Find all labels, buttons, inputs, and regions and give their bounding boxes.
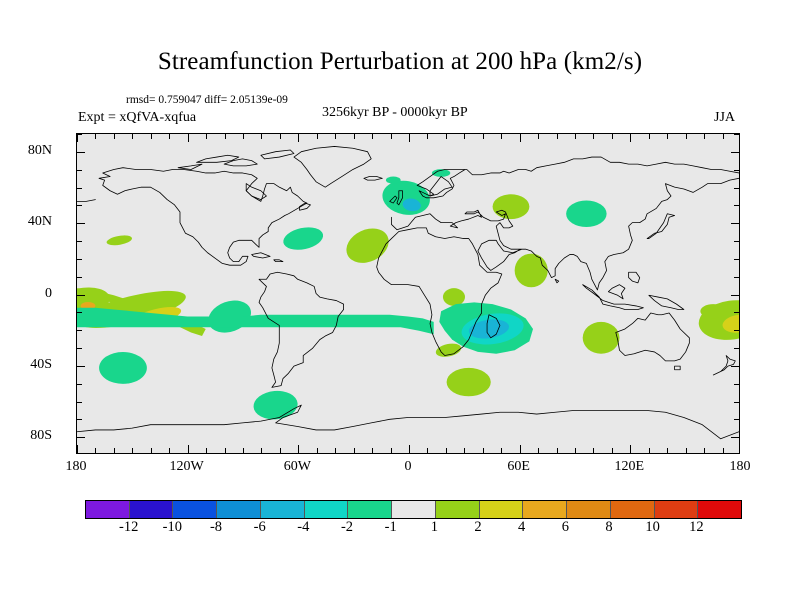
y-axis-label: 0 (45, 286, 52, 302)
axis-tick (734, 205, 739, 206)
coastline (99, 168, 307, 265)
x-axis-label: 0 (405, 459, 412, 475)
axis-tick (483, 448, 484, 453)
axis-tick (612, 448, 613, 453)
colorbar-segment (260, 501, 304, 518)
axis-tick (501, 448, 502, 453)
axis-tick (734, 277, 739, 278)
axis-tick (557, 448, 558, 453)
colorbar-tick-label: 4 (518, 519, 525, 536)
axis-tick (686, 448, 687, 453)
anomaly-blob (386, 177, 401, 184)
axis-tick (169, 448, 170, 453)
colorbar-segment (435, 501, 479, 518)
axis-tick (464, 134, 465, 139)
axis-tick (731, 437, 739, 438)
x-axis-label: 180 (66, 459, 87, 475)
y-axis-label: 40S (30, 357, 52, 373)
axis-tick (132, 448, 133, 453)
y-axis-label: 80S (30, 428, 52, 444)
axis-tick (520, 134, 521, 142)
axis-tick (77, 152, 85, 153)
axis-tick (630, 134, 631, 142)
axis-tick (151, 134, 152, 139)
axis-tick (734, 188, 739, 189)
colorbar-tick-label: -12 (119, 519, 138, 536)
anomaly-blob (566, 200, 606, 227)
coastline (246, 184, 266, 200)
axis-tick (132, 134, 133, 139)
coastline (364, 177, 382, 181)
axis-tick (77, 223, 85, 224)
axis-tick (77, 205, 82, 206)
axis-tick (225, 134, 226, 139)
axis-tick (354, 134, 355, 139)
axis-tick (649, 134, 650, 139)
coastline (77, 200, 95, 202)
axis-tick (734, 384, 739, 385)
axis-tick (593, 448, 594, 453)
axis-tick (317, 134, 318, 139)
axis-tick (723, 134, 724, 139)
coastline (274, 260, 283, 262)
axis-tick (731, 152, 739, 153)
axis-tick (649, 448, 650, 453)
axis-tick (427, 134, 428, 139)
axis-tick (77, 419, 82, 420)
map-plot-area (76, 133, 740, 454)
coastline (261, 150, 294, 159)
axis-tick (206, 134, 207, 139)
coastline (224, 159, 257, 166)
axis-tick (243, 134, 244, 139)
axis-tick (77, 188, 82, 189)
coastline (252, 253, 270, 258)
axis-tick (77, 134, 82, 135)
experiment-label: Expt = xQfVA-xqfua (78, 110, 196, 126)
axis-tick (114, 448, 115, 453)
colorbar-tick-label: -10 (163, 519, 182, 536)
axis-tick (77, 330, 82, 331)
axis-tick (77, 170, 82, 171)
axis-tick (298, 445, 299, 453)
anomaly-blob (380, 177, 433, 218)
axis-tick (734, 170, 739, 171)
axis-tick (667, 448, 668, 453)
y-axis-label: 40N (28, 214, 52, 230)
axis-tick (298, 134, 299, 142)
colorbar-segment (654, 501, 698, 518)
axis-tick (734, 259, 739, 260)
axis-tick (261, 134, 262, 139)
axis-tick (667, 134, 668, 139)
axis-tick (335, 448, 336, 453)
axis-tick (77, 402, 82, 403)
anomaly-blob (583, 322, 620, 354)
coastline (294, 146, 371, 187)
axis-tick (538, 134, 539, 139)
axis-tick (391, 448, 392, 453)
axis-tick (77, 384, 82, 385)
colorbar-segment (522, 501, 566, 518)
anomaly-region (77, 308, 434, 335)
axis-tick (77, 312, 82, 313)
axis-tick (335, 134, 336, 139)
axis-tick (593, 134, 594, 139)
axis-tick (317, 448, 318, 453)
axis-tick (354, 448, 355, 453)
colorbar-tick-label: 8 (605, 519, 612, 536)
anomaly-blob (493, 194, 530, 219)
axis-tick (409, 445, 410, 453)
x-axis-label: 180 (730, 459, 751, 475)
axis-tick (427, 448, 428, 453)
axis-tick (151, 448, 152, 453)
axis-tick (77, 295, 85, 296)
x-axis-label: 120E (615, 459, 645, 475)
coastline (583, 285, 644, 310)
axis-tick (446, 134, 447, 139)
map-canvas (77, 134, 739, 453)
axis-tick (575, 134, 576, 139)
axis-tick (686, 134, 687, 139)
anomaly-blob (106, 234, 133, 247)
colorbar-tick-label: 10 (645, 519, 660, 536)
axis-tick (612, 134, 613, 139)
colorbar-labels: -12-10-8-6-4-2-1124681012 (85, 519, 740, 539)
colorbar-segment (347, 501, 391, 518)
colorbar-segment (86, 501, 129, 518)
axis-tick (734, 402, 739, 403)
axis-tick (731, 295, 739, 296)
axis-tick (446, 448, 447, 453)
anomaly-blob (515, 254, 548, 288)
colorbar-segment (129, 501, 173, 518)
axis-tick (77, 134, 78, 142)
axis-tick (520, 445, 521, 453)
colorbar-tick-label: -4 (297, 519, 309, 536)
colorbar-segment (479, 501, 523, 518)
axis-tick (372, 134, 373, 139)
colorbar-tick-label: 6 (562, 519, 569, 536)
anomaly-blob (443, 288, 465, 306)
colorbar-tick-label: 12 (689, 519, 704, 536)
axis-tick (734, 348, 739, 349)
period-label: 3256kyr BP - 0000kyr BP (322, 105, 468, 121)
season-label: JJA (714, 110, 735, 126)
axis-tick (77, 366, 85, 367)
colorbar-segment (304, 501, 348, 518)
colorbar-tick-label: -1 (385, 519, 397, 536)
anomaly-blob (252, 389, 298, 421)
axis-tick (77, 348, 82, 349)
axis-tick (575, 448, 576, 453)
x-axis-label: 120W (170, 459, 204, 475)
axis-tick (734, 330, 739, 331)
coastline (178, 164, 202, 169)
axis-tick (731, 223, 739, 224)
axis-tick (723, 448, 724, 453)
coastline (647, 214, 675, 239)
axis-tick (704, 134, 705, 139)
figure-root: Streamfunction Perturbation at 200 hPa (… (0, 0, 800, 600)
coastline (616, 313, 690, 361)
rmsd-annotation: rmsd= 0.759047 diff= 2.05139e-09 (126, 94, 288, 106)
axis-tick (734, 241, 739, 242)
colorbar-tick-label: -2 (341, 519, 353, 536)
axis-tick (188, 445, 189, 453)
x-axis-label: 60W (284, 459, 311, 475)
axis-tick (206, 448, 207, 453)
axis-tick (77, 241, 82, 242)
axis-tick (95, 448, 96, 453)
colorbar-tick-label: 2 (474, 519, 481, 536)
axis-tick (280, 448, 281, 453)
axis-tick (77, 445, 78, 453)
axis-tick (77, 277, 82, 278)
axis-tick (734, 419, 739, 420)
anomaly-blob (341, 222, 395, 270)
colorbar-segment (216, 501, 260, 518)
coastline (555, 279, 559, 283)
axis-tick (169, 134, 170, 139)
colorbar-segment (172, 501, 216, 518)
axis-tick (280, 134, 281, 139)
coastline (675, 366, 681, 370)
colorbar-segment (697, 501, 741, 518)
axis-tick (77, 437, 85, 438)
anomaly-blob (99, 352, 147, 384)
colorbar-tick-label: -8 (210, 519, 222, 536)
anomaly-blob (447, 368, 491, 396)
axis-tick (501, 134, 502, 139)
colorbar-segment (610, 501, 654, 518)
axis-tick (734, 134, 739, 135)
coastline (77, 405, 739, 439)
axis-tick (483, 134, 484, 139)
coastline (629, 272, 640, 283)
axis-tick (464, 448, 465, 453)
anomaly-blob (281, 224, 325, 253)
axis-tick (243, 448, 244, 453)
axis-tick (372, 448, 373, 453)
axis-tick (731, 366, 739, 367)
coastline (259, 272, 344, 387)
axis-tick (734, 312, 739, 313)
x-axis-label: 60E (507, 459, 530, 475)
axis-tick (261, 448, 262, 453)
colorbar-tick-label: -6 (254, 519, 266, 536)
axis-tick (391, 134, 392, 139)
y-axis-label: 80N (28, 143, 52, 159)
coastline (649, 295, 684, 309)
axis-tick (704, 448, 705, 453)
page-title: Streamfunction Perturbation at 200 hPa (… (0, 48, 800, 76)
axis-tick (538, 448, 539, 453)
axis-tick (409, 134, 410, 142)
axis-tick (630, 445, 631, 453)
colorbar-segment (566, 501, 610, 518)
coastline (430, 177, 452, 196)
colorbar-tick-label: 1 (431, 519, 438, 536)
axis-tick (114, 134, 115, 139)
axis-tick (188, 134, 189, 142)
axis-tick (557, 134, 558, 139)
axis-tick (225, 448, 226, 453)
anomaly-blob (700, 304, 726, 318)
colorbar-segment (391, 501, 435, 518)
axis-tick (77, 259, 82, 260)
colorbar (85, 500, 742, 519)
coastline (608, 285, 625, 299)
axis-tick (95, 134, 96, 139)
